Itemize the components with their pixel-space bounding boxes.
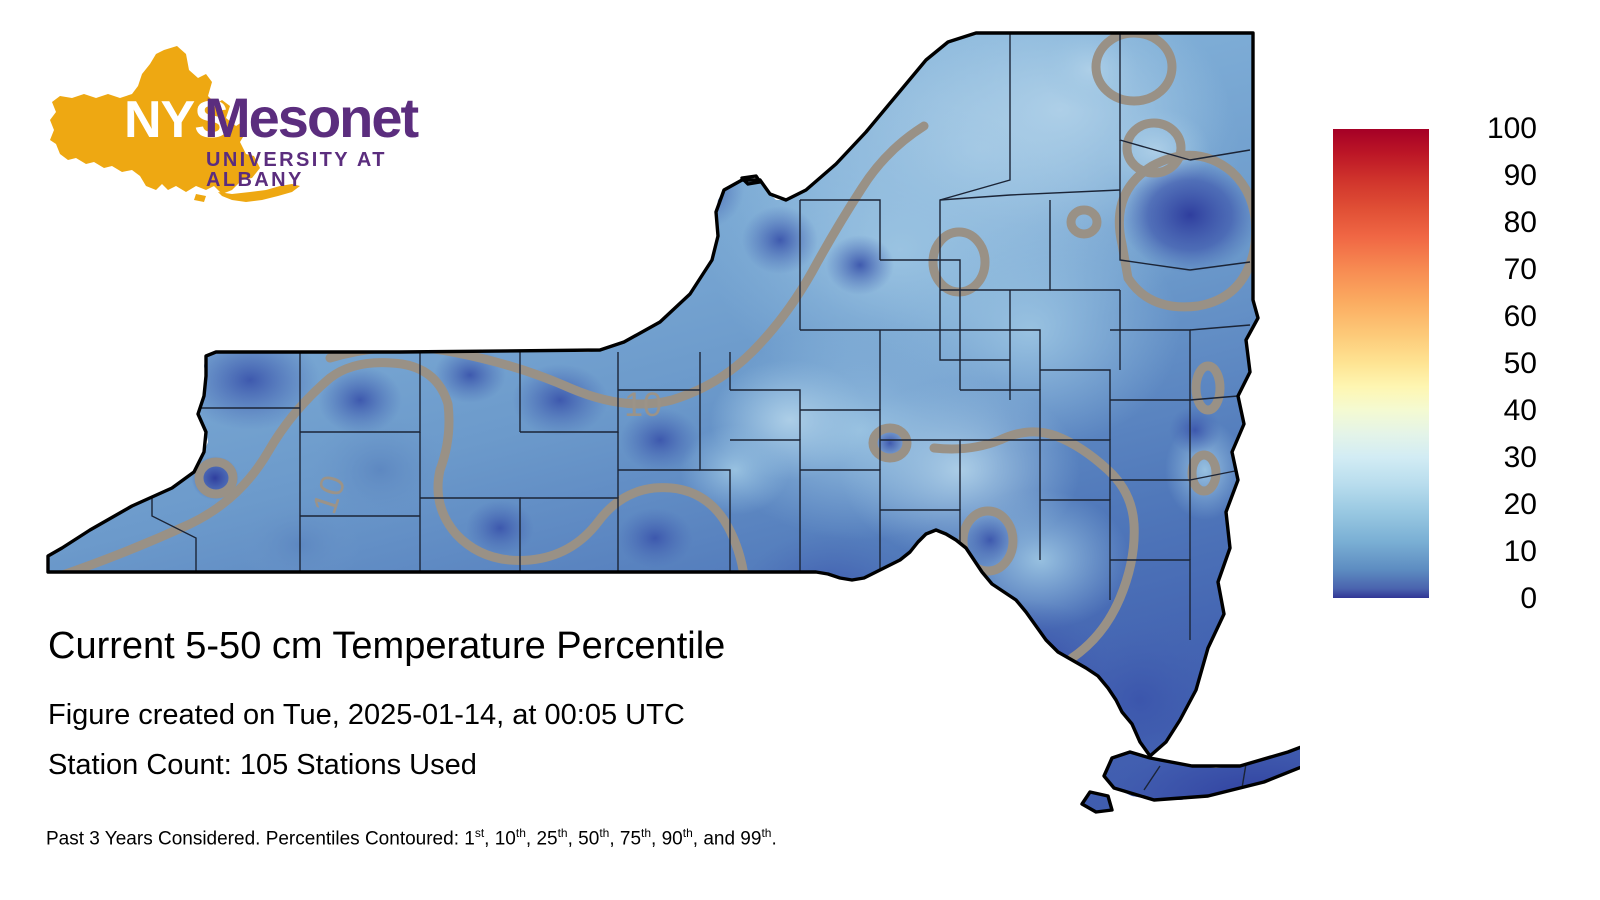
colorbar-tick-100: 100 <box>1441 114 1537 144</box>
station-count-text: Station Count: 105 Stations Used <box>48 750 477 782</box>
contour-footnote: Past 3 Years Considered. Percentiles Con… <box>46 827 777 850</box>
colorbar-tick-10: 10 <box>1441 537 1537 567</box>
colorbar-tick-30: 30 <box>1441 443 1537 473</box>
colorbar-tick-20: 20 <box>1441 490 1537 520</box>
contour-label-10-a: 10 <box>624 386 662 424</box>
colorbar-tick-80: 80 <box>1441 208 1537 238</box>
colorbar-tick-40: 40 <box>1441 396 1537 426</box>
colorbar-tick-0: 0 <box>1441 584 1537 614</box>
colorbar-tick-labels: 100 90 80 70 60 50 40 30 20 10 0 <box>1441 129 1581 598</box>
percentile-colorbar <box>1333 129 1429 598</box>
colorbar-tick-50: 50 <box>1441 349 1537 379</box>
creation-timestamp: Figure created on Tue, 2025-01-14, at 00… <box>48 700 685 732</box>
colorbar-tick-70: 70 <box>1441 255 1537 285</box>
page-title: Current 5-50 cm Temperature Percentile <box>48 626 725 668</box>
colorbar-tick-60: 60 <box>1441 302 1537 332</box>
colorbar-tick-90: 90 <box>1441 161 1537 191</box>
colorbar-gradient <box>1333 129 1429 598</box>
